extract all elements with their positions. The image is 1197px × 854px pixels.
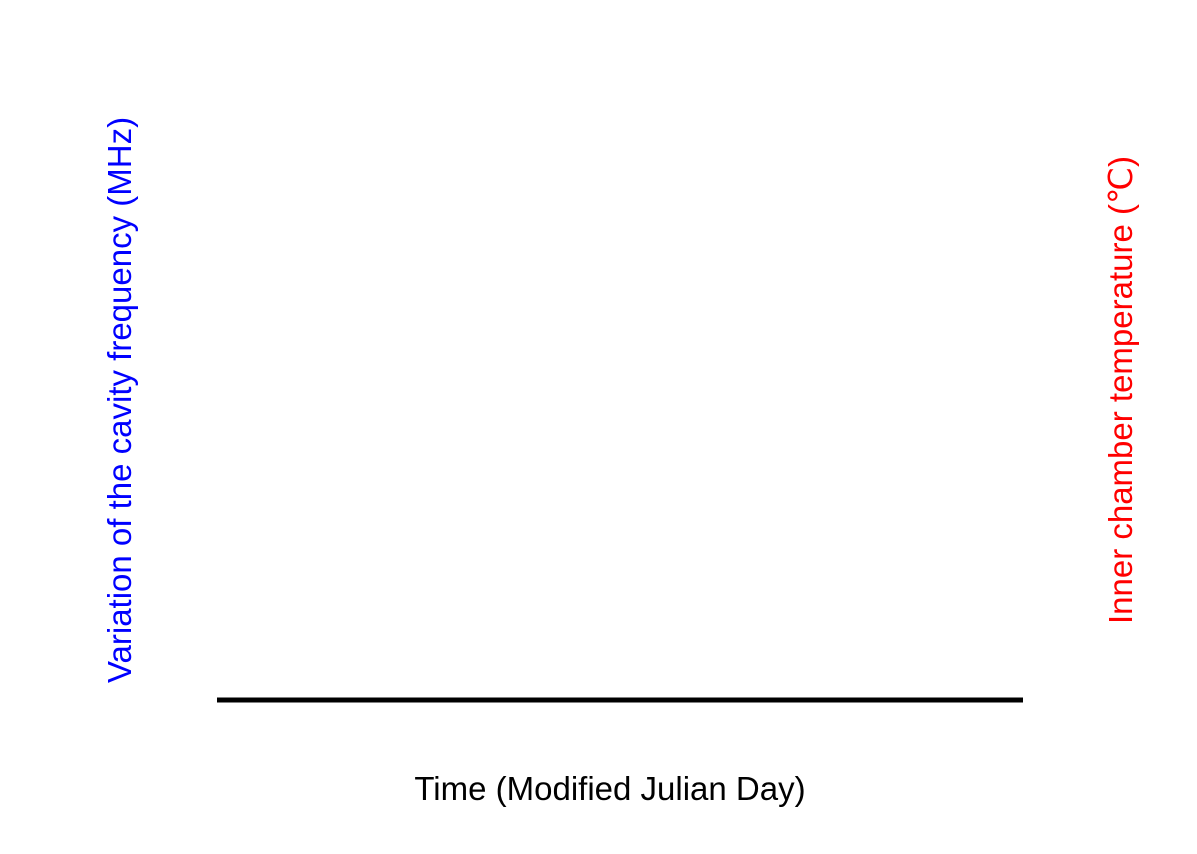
- left-y-axis-title: Variation of the cavity frequency (MHz): [101, 117, 138, 683]
- x-axis: Time (Modified Julian Day): [217, 700, 1023, 807]
- right-y-axis: Inner chamber temperature (℃): [1102, 156, 1139, 624]
- left-y-axis: Variation of the cavity frequency (MHz): [101, 117, 138, 683]
- plot-canvas: Time (Modified Julian Day) Variation of …: [0, 0, 1197, 854]
- x-axis-title: Time (Modified Julian Day): [414, 770, 805, 807]
- chart-figure: Time (Modified Julian Day) Variation of …: [0, 0, 1197, 854]
- right-y-axis-title: Inner chamber temperature (℃): [1102, 156, 1139, 624]
